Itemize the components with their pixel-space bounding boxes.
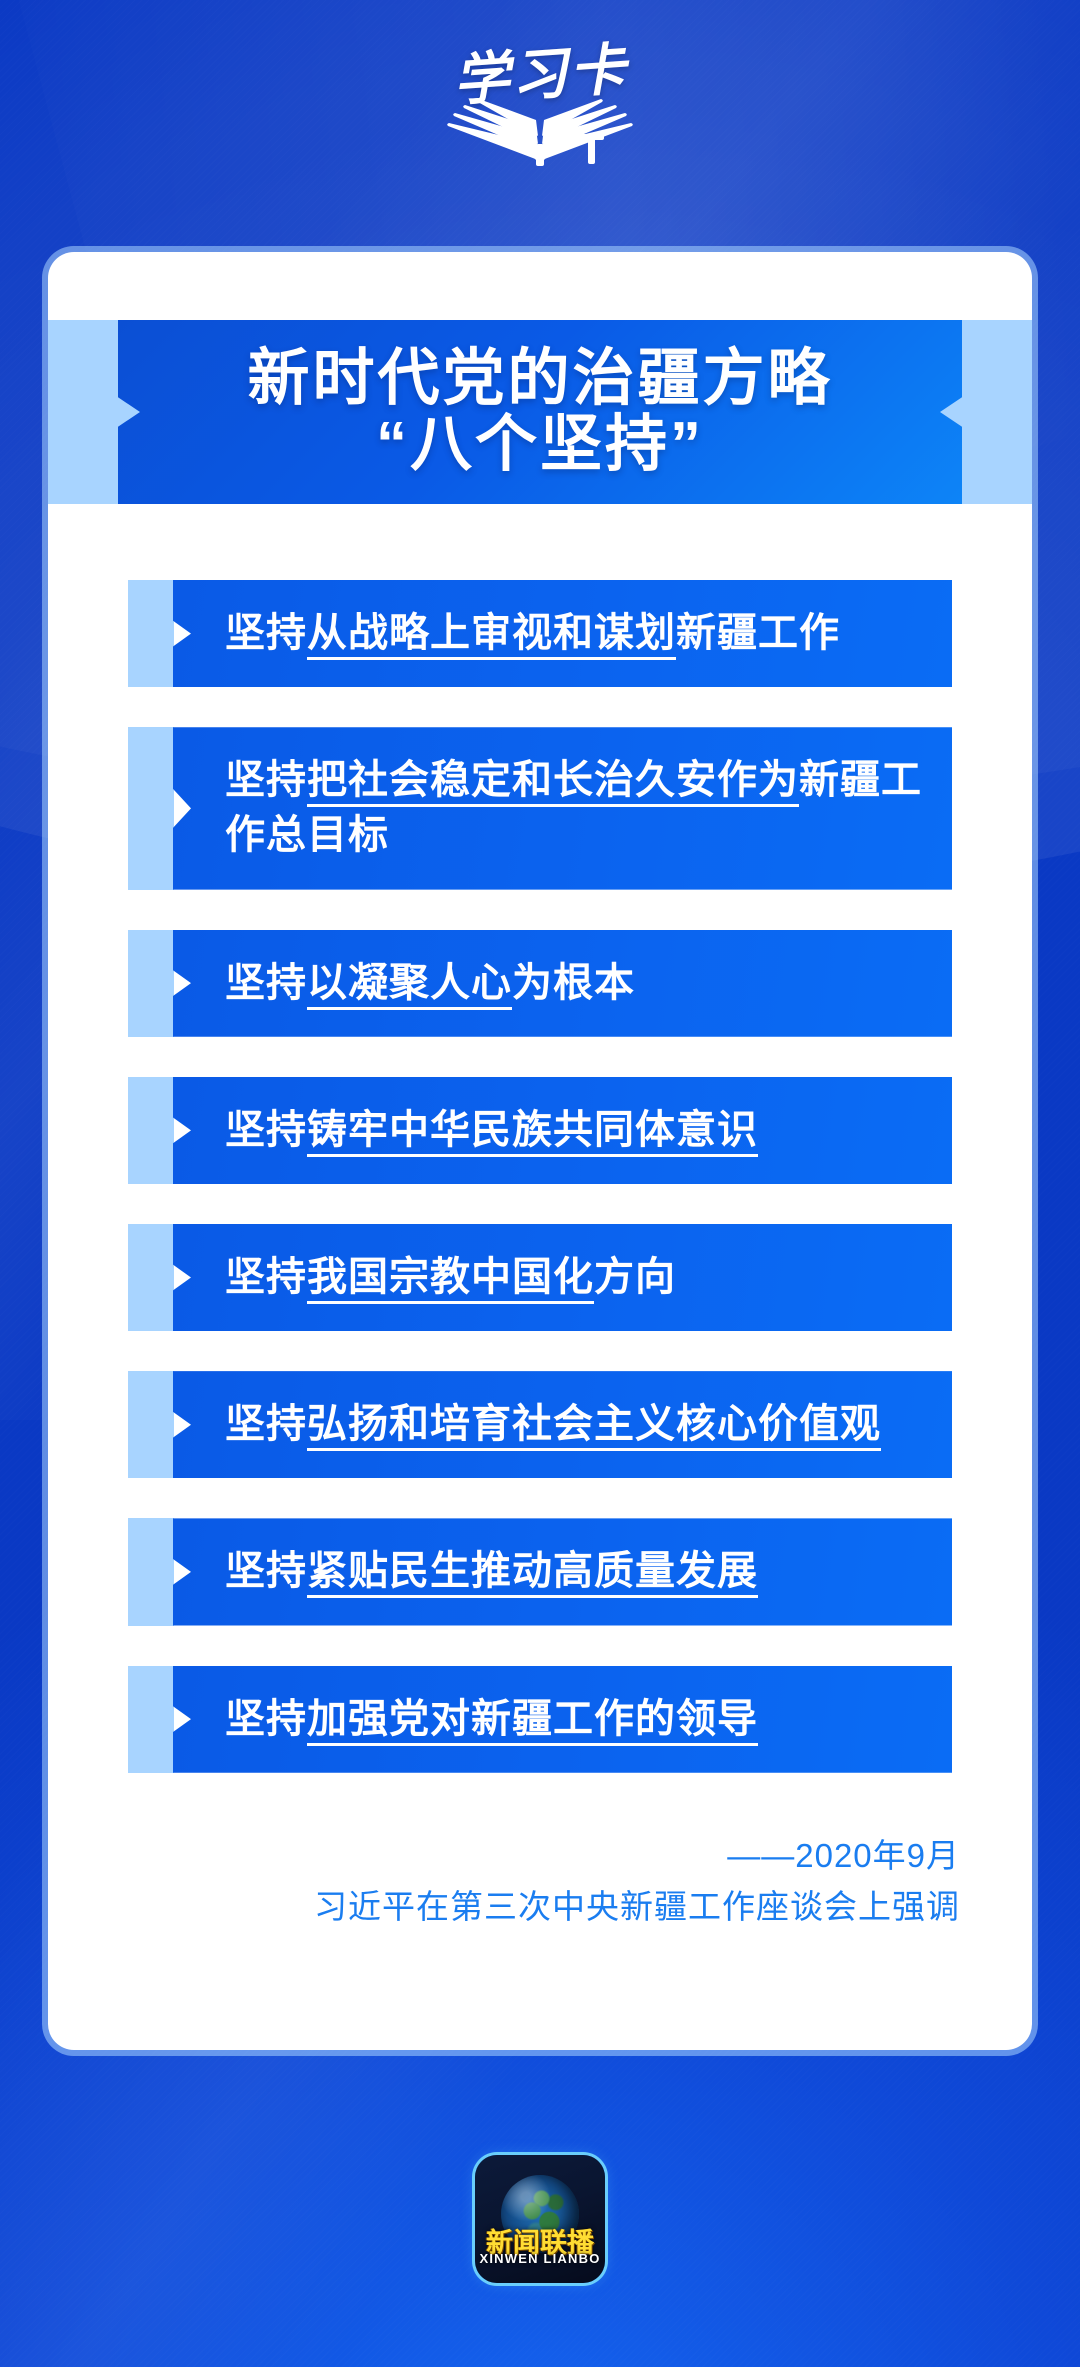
list-item-suffix: 方向 [594,1255,676,1299]
list-item-box[interactable]: 坚持铸牢中华民族共同体意识 [173,1077,952,1184]
list-item-box[interactable]: 坚持把社会稳定和长治久安作为新疆工作总目标 [173,727,952,889]
list-item-suffix: 新疆工作 [676,611,840,655]
list-item-text: 坚持我国宗教中国化方向 [225,1250,676,1305]
list-item-text: 坚持铸牢中华民族共同体意识 [225,1103,758,1158]
list-item[interactable]: 坚持把社会稳定和长治久安作为新疆工作总目标 [128,727,952,889]
list-item-prefix: 坚持 [225,1255,307,1299]
list-item-underlined: 以凝聚人心 [307,961,512,1010]
list-item-underlined: 加强党对新疆工作的领导 [307,1697,758,1746]
attribution-source: 习近平在第三次中央新疆工作座谈会上强调 [48,1881,960,1932]
list-item[interactable]: 坚持以凝聚人心为根本 [128,930,952,1037]
list-item-tab [128,727,174,889]
content-card: 新时代党的治疆方略 “八个坚持” 坚持从战略上审视和谋划新疆工作 坚持把社会稳定… [48,252,1032,2050]
list-item-underlined: 铸牢中华民族共同体意识 [307,1108,758,1157]
list-item-underlined: 紧贴民生推动高质量发展 [307,1549,758,1598]
list-item-box[interactable]: 坚持从战略上审视和谋划新疆工作 [173,580,952,687]
list-item-suffix: 为根本 [512,961,635,1005]
list-item-tab [128,1371,174,1478]
list-item-prefix: 坚持 [225,1108,307,1152]
attribution: ——2020年9月 习近平在第三次中央新疆工作座谈会上强调 [48,1830,1032,1932]
brand-header: 学习卡 [0,28,1080,168]
list-item-box[interactable]: 坚持我国宗教中国化方向 [173,1224,952,1331]
page-title-line1: 新时代党的治疆方略 [247,346,832,412]
list-item-prefix: 坚持 [225,611,307,655]
list-item-tab [128,930,174,1037]
list-item-prefix: 坚持 [225,1549,307,1593]
list-item-text: 坚持从战略上审视和谋划新疆工作 [225,606,840,661]
list-item-box[interactable]: 坚持弘扬和培育社会主义核心价值观 [173,1371,952,1478]
principles-list: 坚持从战略上审视和谋划新疆工作 坚持把社会稳定和长治久安作为新疆工作总目标 坚持… [128,580,952,1813]
list-item-text: 坚持以凝聚人心为根本 [225,956,635,1011]
open-book-icon [440,86,640,171]
list-item[interactable]: 坚持加强党对新疆工作的领导 [128,1666,952,1773]
title-banner-core: 新时代党的治疆方略 “八个坚持” [118,320,962,504]
list-item[interactable]: 坚持铸牢中华民族共同体意识 [128,1077,952,1184]
logo-label-en: XINWEN LIANBO [475,2251,605,2266]
list-item-tab [128,1518,174,1625]
list-item-underlined: 我国宗教中国化 [307,1255,594,1304]
attribution-date: ——2020年9月 [48,1830,960,1881]
list-item-box[interactable]: 坚持紧贴民生推动高质量发展 [173,1518,952,1625]
list-item-tab [128,1077,174,1184]
list-item[interactable]: 坚持弘扬和培育社会主义核心价值观 [128,1371,952,1478]
list-item-text: 坚持加强党对新疆工作的领导 [225,1692,758,1747]
list-item-box[interactable]: 坚持以凝聚人心为根本 [173,930,952,1037]
list-item-tab [128,1666,174,1773]
list-item-underlined: 从战略上审视和谋划 [307,611,676,660]
list-item-text: 坚持弘扬和培育社会主义核心价值观 [225,1397,881,1452]
list-item-prefix: 坚持 [225,758,307,802]
page-title-line2: “八个坚持” [376,412,704,478]
list-item-text: 坚持把社会稳定和长治久安作为新疆工作总目标 [225,753,924,863]
list-item-underlined: 把社会稳定和长治久安作为 [307,758,799,807]
list-item-prefix: 坚持 [225,1402,307,1446]
list-item-tab [128,580,174,687]
list-item-tab [128,1224,174,1331]
xinwen-lianbo-logo[interactable]: 新闻联播 XINWEN LIANBO [475,2155,605,2283]
list-item[interactable]: 坚持从战略上审视和谋划新疆工作 [128,580,952,687]
title-banner: 新时代党的治疆方略 “八个坚持” [48,320,1032,504]
list-item-prefix: 坚持 [225,961,307,1005]
list-item[interactable]: 坚持紧贴民生推动高质量发展 [128,1518,952,1625]
list-item-box[interactable]: 坚持加强党对新疆工作的领导 [173,1666,952,1773]
list-item-underlined: 弘扬和培育社会主义核心价值观 [307,1402,881,1451]
list-item-prefix: 坚持 [225,1697,307,1741]
list-item[interactable]: 坚持我国宗教中国化方向 [128,1224,952,1331]
list-item-text: 坚持紧贴民生推动高质量发展 [225,1544,758,1599]
